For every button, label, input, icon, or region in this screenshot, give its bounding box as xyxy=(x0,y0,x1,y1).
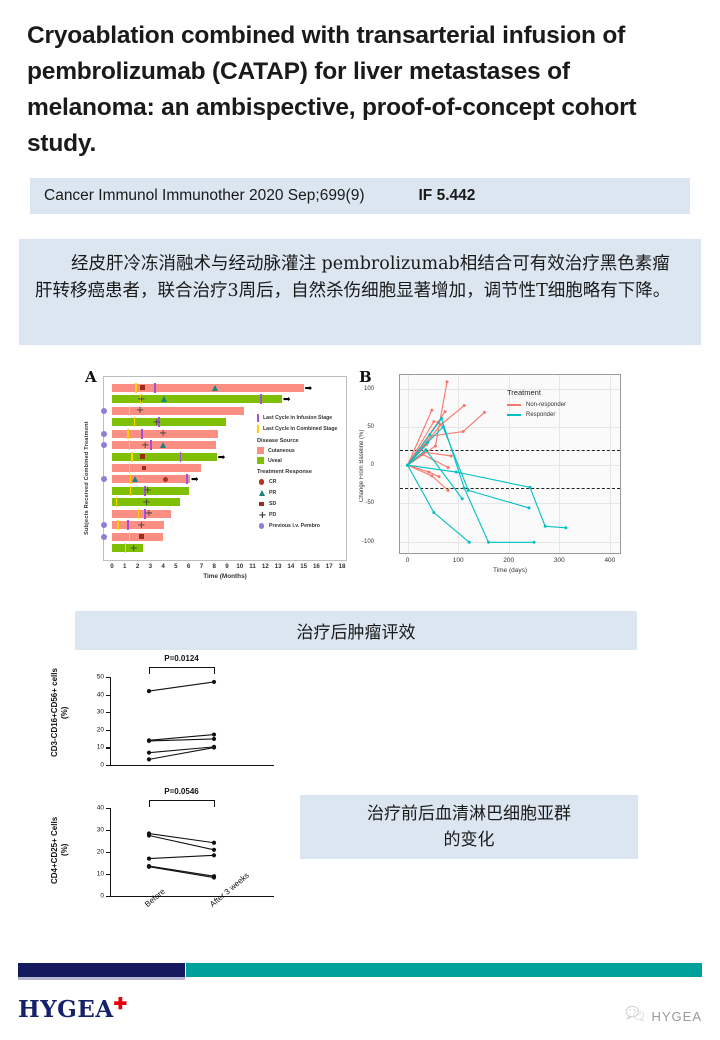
summary-box: 经皮肝冷冻消融术与经动脉灌注 pembrolizumab相结合可有效治疗黑色素瘤… xyxy=(19,239,701,345)
pair-point xyxy=(147,751,151,755)
swimmer-bar xyxy=(112,407,244,415)
legend-response-row: Previous i.v. Pembro xyxy=(257,522,349,530)
figure-a-y-axis-label: Subjects Received Combined Treatment xyxy=(84,398,90,558)
response-pd-marker: + xyxy=(159,428,167,439)
series-point xyxy=(447,466,450,469)
series-point xyxy=(441,425,444,428)
last-cycle-combined-marker xyxy=(127,429,129,439)
medical-cross-icon: ✚ xyxy=(114,994,128,1013)
pair-point xyxy=(147,833,151,837)
figure-b-y-axis-label: Change From Baseline (%) xyxy=(359,406,365,526)
pair-line xyxy=(149,867,214,878)
caption-line-2: 的变化 xyxy=(367,827,571,853)
previous-iv-pembro-marker xyxy=(101,431,107,437)
legend-section-title: Treatment Response xyxy=(257,469,349,475)
series-point xyxy=(424,448,427,451)
x-tick-label: 8 xyxy=(212,563,215,570)
x-tick-label: 11 xyxy=(249,563,256,570)
legend-label: SD xyxy=(269,501,276,507)
last-cycle-combined-marker xyxy=(138,509,140,519)
x-tick-label: 0 xyxy=(406,557,410,564)
legend-box-swatch xyxy=(257,457,264,464)
series-point xyxy=(447,489,450,492)
x-tick-label: 0 xyxy=(110,563,113,570)
last-cycle-combined-marker xyxy=(131,452,133,462)
legend-series-row: Responder xyxy=(507,412,566,418)
series-point xyxy=(440,417,443,420)
x-tick-label: 10 xyxy=(236,563,243,570)
pair-point xyxy=(212,680,216,684)
x-tick-label: 13 xyxy=(275,563,282,570)
last-cycle-combined-marker xyxy=(129,532,131,542)
page-title: Cryoablation combined with transarterial… xyxy=(27,18,695,162)
legend-label: Non-responder xyxy=(526,402,566,408)
series-point xyxy=(450,454,453,457)
legend-label: Last Cycle in Combined Stage xyxy=(263,426,337,432)
y-tick-label: -100 xyxy=(362,539,374,545)
swimmer-bar-row: +➡ xyxy=(104,395,346,403)
x-tick-label: 18 xyxy=(339,563,346,570)
legend-source-row: Cutaneous xyxy=(257,447,349,454)
pair-point xyxy=(147,689,151,693)
y-tick-label: -50 xyxy=(365,500,374,506)
x-tick-label: 6 xyxy=(187,563,190,570)
response-pd-marker: + xyxy=(144,485,152,496)
response-pd-marker: + xyxy=(136,405,144,416)
significance-bar xyxy=(149,800,214,801)
swimmer-bar xyxy=(112,418,226,426)
footer-bar-navy-shadow xyxy=(18,977,185,980)
figure-a-letter: A xyxy=(85,368,97,386)
caption-tumor-response: 治疗后肿瘤评效 xyxy=(75,611,637,650)
legend-marker-row: Last Cycle in Infusion Stage xyxy=(257,414,349,422)
x-tick-label: 2 xyxy=(136,563,139,570)
figure-b-legend-title: Treatment xyxy=(507,388,566,397)
last-cycle-infusion-marker xyxy=(150,440,152,450)
x-tick-label: 300 xyxy=(554,557,565,564)
previous-iv-pembro-marker xyxy=(101,522,107,528)
ongoing-arrow-icon: ➡ xyxy=(218,453,226,461)
legend-label: Cutaneous xyxy=(268,448,295,454)
series-point xyxy=(564,526,567,529)
series-point xyxy=(467,489,470,492)
legend-line-swatch xyxy=(507,414,521,416)
x-tick-label: 17 xyxy=(326,563,333,570)
series-point xyxy=(426,441,429,444)
journal-reference: Cancer Immunol Immunother 2020 Sep;699(9… xyxy=(44,187,365,205)
response-sd-marker xyxy=(142,466,147,471)
response-pd-marker: + xyxy=(137,520,145,531)
legend-response-row: +PD xyxy=(257,511,349,519)
significance-bar xyxy=(149,667,214,668)
x-tick-label: 5 xyxy=(174,563,177,570)
previous-iv-pembro-marker xyxy=(101,442,107,448)
figure-b-legend: Treatment Non-responderResponder xyxy=(507,388,566,422)
series-point xyxy=(439,423,442,426)
x-tick-label: 1 xyxy=(123,563,126,570)
series-point xyxy=(533,541,536,544)
x-tick-label: 200 xyxy=(503,557,514,564)
legend-response-row: PR xyxy=(257,489,349,497)
last-cycle-combined-marker xyxy=(129,463,131,473)
wechat-account: HYGEA xyxy=(625,1005,702,1027)
x-tick-label: 100 xyxy=(453,557,464,564)
last-cycle-infusion-marker xyxy=(260,394,262,404)
response-pd-marker: + xyxy=(137,394,145,405)
last-cycle-combined-marker xyxy=(117,520,119,530)
last-cycle-combined-marker xyxy=(130,486,132,496)
swimmer-bar-row xyxy=(104,533,346,541)
series-point xyxy=(527,506,530,509)
series-point xyxy=(444,410,447,413)
series-point xyxy=(437,475,440,478)
last-cycle-combined-marker xyxy=(135,383,137,393)
brand-logo-text: HYGEA xyxy=(18,996,114,1023)
figure-a-swimmer-plot: A Subjects Received Combined Treatment ➡… xyxy=(85,366,353,594)
legend-marker-row: Last Cycle in Combined Stage xyxy=(257,425,349,433)
brand-logo: HYGEA✚ xyxy=(18,996,128,1023)
response-pr-marker xyxy=(160,442,166,448)
legend-glyph xyxy=(257,489,266,497)
legend-response-row: SD xyxy=(257,500,349,508)
x-tick-label: 14 xyxy=(287,563,294,570)
pair-line xyxy=(149,682,214,691)
legend-label: Last Cycle in Infusion Stage xyxy=(263,415,332,421)
swimmer-bar xyxy=(112,510,171,518)
figure-treg-cells: CD4+CD25+ Cells (%) P=0.0546 010203040Be… xyxy=(48,790,288,925)
ongoing-arrow-icon: ➡ xyxy=(283,395,291,403)
last-cycle-infusion-marker xyxy=(127,520,129,530)
series-point xyxy=(463,404,466,407)
legend-label: Responder xyxy=(526,412,555,418)
footer-bar-navy xyxy=(18,963,185,977)
last-cycle-combined-marker xyxy=(116,497,118,507)
last-cycle-combined-marker xyxy=(129,406,131,416)
paired-lines-layer xyxy=(48,655,288,785)
legend-label: Previous i.v. Pembro xyxy=(269,523,320,529)
x-tick-label: 4 xyxy=(161,563,164,570)
series-point xyxy=(427,471,430,474)
impact-factor: IF 5.442 xyxy=(419,187,476,205)
last-cycle-infusion-marker xyxy=(154,383,156,393)
response-sd-marker xyxy=(140,454,145,459)
swimmer-bar xyxy=(112,533,163,541)
wechat-label: HYGEA xyxy=(651,1009,702,1024)
pair-line xyxy=(149,855,214,858)
series-point xyxy=(468,541,471,544)
response-pd-marker: + xyxy=(129,543,137,554)
series-point xyxy=(406,464,409,467)
pair-point xyxy=(212,841,216,845)
paired-lines-layer xyxy=(48,790,288,925)
ongoing-arrow-icon: ➡ xyxy=(305,384,313,392)
series-line xyxy=(408,419,534,543)
last-cycle-infusion-marker xyxy=(141,429,143,439)
response-pr-marker xyxy=(132,476,138,482)
legend-glyph: + xyxy=(257,511,266,519)
legend-label: PR xyxy=(269,490,276,496)
y-tick-label: 100 xyxy=(364,386,374,392)
series-point xyxy=(483,411,486,414)
previous-iv-pembro-marker xyxy=(101,408,107,414)
series-line xyxy=(408,465,448,490)
series-point xyxy=(430,474,433,477)
last-cycle-infusion-marker xyxy=(186,474,188,484)
significance-cap xyxy=(214,800,215,807)
x-tick-label: 7 xyxy=(200,563,203,570)
series-point xyxy=(461,497,464,500)
figure-b-letter: B xyxy=(359,368,372,386)
pair-point xyxy=(147,739,151,743)
significance-cap xyxy=(214,667,215,674)
summary-text: 经皮肝冷冻消融术与经动脉灌注 pembrolizumab相结合可有效治疗黑色素瘤… xyxy=(35,251,685,305)
legend-label: CR xyxy=(269,479,277,485)
legend-glyph xyxy=(257,478,266,486)
series-point xyxy=(462,430,465,433)
figure-b-spider-plot: B Change From Baseline (%) -100-50050100… xyxy=(357,366,640,594)
pair-point xyxy=(212,737,216,741)
legend-series-row: Non-responder xyxy=(507,402,566,408)
last-cycle-infusion-marker xyxy=(180,452,182,462)
response-sd-marker xyxy=(139,534,144,539)
previous-iv-pembro-marker xyxy=(101,534,107,540)
pair-point xyxy=(212,745,216,749)
response-pd-marker: + xyxy=(141,440,149,451)
x-tick-label: 12 xyxy=(262,563,269,570)
previous-iv-pembro-marker xyxy=(101,476,107,482)
legend-line-swatch xyxy=(257,414,259,422)
pair-point xyxy=(147,857,151,861)
legend-source-row: Uveal xyxy=(257,457,349,464)
figure-b-x-axis-label: Time (days) xyxy=(399,567,621,574)
series-point xyxy=(432,420,435,423)
x-tick-label: 3 xyxy=(149,563,152,570)
series-point xyxy=(434,445,437,448)
figure-a-x-axis-label: Time (Months) xyxy=(103,573,347,580)
series-point xyxy=(528,486,531,489)
legend-glyph xyxy=(257,522,266,530)
last-cycle-combined-marker xyxy=(129,440,131,450)
series-point xyxy=(446,380,449,383)
response-pr-marker xyxy=(212,385,218,391)
legend-line-swatch xyxy=(257,425,259,433)
legend-label: PD xyxy=(269,512,276,518)
pair-point xyxy=(212,853,216,857)
series-point xyxy=(430,409,433,412)
series-point xyxy=(455,471,458,474)
legend-glyph xyxy=(257,500,266,508)
figure-a-legend: Last Cycle in Infusion StageLast Cycle i… xyxy=(257,414,349,533)
response-pd-marker: + xyxy=(152,417,160,428)
caption-lymphocyte-subsets: 治疗前后血清淋巴细胞亚群 的变化 xyxy=(300,795,638,859)
swimmer-bar xyxy=(112,453,217,461)
series-point xyxy=(544,525,547,528)
x-tick-label: 15 xyxy=(300,563,307,570)
caption-line-1: 治疗前后血清淋巴细胞亚群 xyxy=(367,801,571,827)
x-tick-label: 400 xyxy=(604,557,615,564)
wechat-icon xyxy=(625,1005,645,1027)
figure-a-x-ticks: 0123456789101112131415161718 xyxy=(103,563,347,573)
response-pd-marker: + xyxy=(145,508,153,519)
ongoing-arrow-icon: ➡ xyxy=(191,475,199,483)
swimmer-bar-row: + xyxy=(104,544,346,552)
legend-label: Uveal xyxy=(268,458,282,464)
pair-point xyxy=(212,848,216,852)
figure-panel-top: A Subjects Received Combined Treatment ➡… xyxy=(85,366,640,594)
legend-line-swatch xyxy=(507,404,521,406)
x-tick-label: 9 xyxy=(225,563,228,570)
footer-bar-teal xyxy=(186,963,702,977)
last-cycle-combined-marker xyxy=(125,543,127,553)
swimmer-bar xyxy=(112,464,201,472)
series-point xyxy=(487,541,490,544)
legend-section-title: Disease Source xyxy=(257,438,349,444)
pair-point xyxy=(147,757,151,761)
last-cycle-combined-marker xyxy=(134,417,136,427)
series-point xyxy=(463,487,466,490)
response-sd-marker xyxy=(140,385,145,390)
swimmer-bar xyxy=(112,475,190,483)
legend-response-row: CR xyxy=(257,478,349,486)
y-tick-label: 50 xyxy=(367,424,374,430)
y-tick-label: 0 xyxy=(371,462,374,468)
significance-cap xyxy=(149,800,150,807)
figure-nk-cells: CD3-CD16+CD56+ cells (%) P=0.0124 010203… xyxy=(48,655,288,785)
series-point xyxy=(428,433,431,436)
response-pr-marker xyxy=(161,396,167,402)
journal-info-bar: Cancer Immunol Immunother 2020 Sep;699(9… xyxy=(30,178,690,214)
pair-line xyxy=(149,866,214,876)
legend-box-swatch xyxy=(257,447,264,454)
pair-point xyxy=(212,732,216,736)
swimmer-bar xyxy=(112,544,143,552)
pair-point xyxy=(147,865,151,869)
swimmer-bar-row: ➡ xyxy=(104,384,346,392)
series-point xyxy=(432,511,435,514)
significance-cap xyxy=(149,667,150,674)
response-pd-marker: + xyxy=(142,497,150,508)
pair-point xyxy=(212,875,216,879)
x-tick-label: 16 xyxy=(313,563,320,570)
slide-root: Cryoablation combined with transarterial… xyxy=(0,0,720,1040)
